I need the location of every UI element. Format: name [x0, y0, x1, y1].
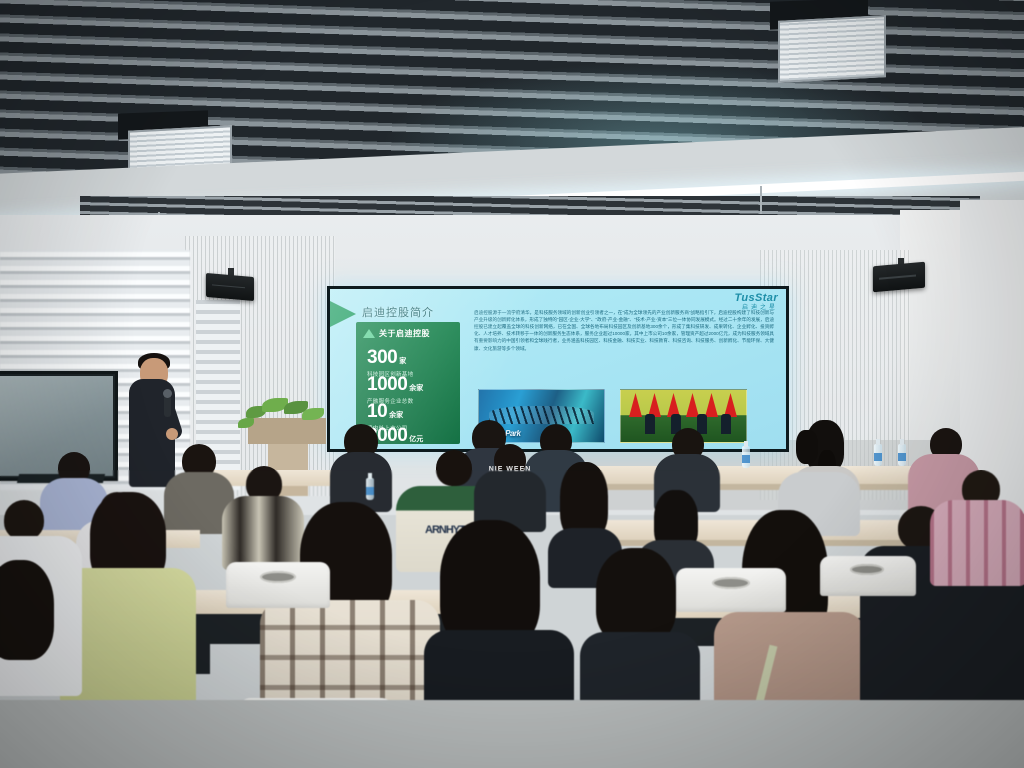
chair[interactable]: [820, 556, 916, 596]
water-bottle: [898, 444, 906, 466]
chair-handle-cutout: [260, 571, 296, 583]
stat-number: 300: [367, 348, 397, 367]
stat-number: 10: [367, 402, 387, 421]
logo-wordmark: TusStar: [734, 293, 778, 304]
ceremony-figure: [645, 414, 655, 434]
shirt-graphic-text: NIE WEEN: [478, 466, 542, 473]
flag-icon: [705, 393, 718, 417]
slide-stats-card: 关于启迪控股 300家 科技园区创新基地 1000余家 产融服务企业总数 10余…: [356, 322, 460, 444]
chair-handle-cutout: [850, 564, 884, 575]
attendee-torso: [930, 500, 1024, 586]
attendee-head: [436, 450, 472, 486]
stat-unit: 家: [399, 358, 406, 365]
attendee-ponytail: [796, 430, 818, 464]
attendee-hair: [596, 548, 676, 644]
wall-speaker-left: [206, 273, 254, 301]
floor: [0, 700, 1024, 768]
wall-speaker-right: [873, 262, 925, 293]
wooden-planter: [248, 418, 326, 444]
stats-card-heading: 关于启迪控股: [379, 328, 430, 339]
microphone-head-icon: [163, 389, 172, 398]
conference-room-photo: 启迪控股简介 TusStar 启迪之星 关于启迪控股 300家 科技园区创新基地…: [0, 0, 1024, 768]
flag-icon: [686, 393, 699, 417]
slide-green-triangle-icon: [330, 301, 356, 327]
slide-title: 启迪控股简介: [362, 304, 434, 320]
monitor-screen: [0, 376, 113, 476]
slide-body-text: 启迪控股源于一流学府清华，是科技服务领域的创新创业引领者之一，在“成为全球领先的…: [474, 309, 774, 352]
mountain-icon: [363, 329, 375, 338]
stat-unit: 余家: [409, 385, 423, 392]
attendee-torso: [222, 496, 304, 570]
presenter-hand: [166, 428, 178, 440]
water-bottle: [874, 444, 882, 466]
chair[interactable]: [676, 568, 786, 612]
stats-card-header: 关于启迪控股: [363, 328, 430, 339]
light-hanger-right: [760, 186, 762, 214]
attendee-head: [4, 500, 44, 540]
chair[interactable]: [226, 562, 330, 608]
water-bottle: [742, 446, 750, 468]
stat-unit: 余家: [389, 412, 403, 419]
attendee-hair: [0, 560, 54, 660]
chair-handle-cutout: [712, 577, 750, 589]
hvac-vent-right: [778, 15, 886, 83]
stat-number: 1000: [367, 375, 407, 394]
water-bottle: [366, 478, 374, 500]
flag-icon: [629, 393, 642, 417]
ceremony-figure: [721, 414, 731, 434]
stat-unit: 亿元: [409, 436, 423, 443]
